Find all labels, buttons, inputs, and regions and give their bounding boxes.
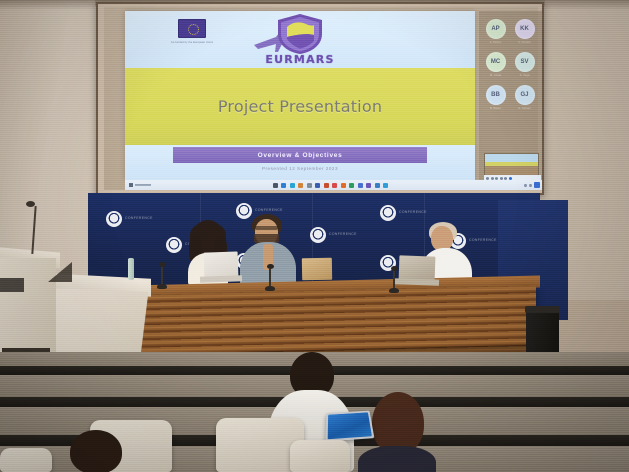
avatar: MC bbox=[486, 52, 506, 72]
eu-cofunding-text: Co-funded by the European Union bbox=[160, 41, 224, 44]
participant-name: G. Jansen bbox=[511, 106, 538, 110]
water-bottle bbox=[128, 258, 134, 280]
participant-tile[interactable]: GJG. Jansen bbox=[511, 85, 538, 115]
shield-icon bbox=[276, 13, 324, 55]
audience-laptop bbox=[325, 411, 374, 442]
seat-4 bbox=[0, 448, 52, 472]
participant-name: B. Bauer bbox=[482, 106, 509, 110]
table-microphone-3 bbox=[389, 266, 399, 293]
laptop-left bbox=[204, 251, 239, 278]
volume-icon[interactable] bbox=[529, 184, 532, 187]
participant-tile[interactable]: SVS. Vega bbox=[511, 52, 538, 82]
eurmars-wordmark: EURMARS bbox=[252, 53, 348, 66]
participant-name: A. Petrov bbox=[482, 40, 509, 44]
taskbar-app-icon[interactable] bbox=[273, 183, 278, 188]
backdrop-logo-text: CONFERENCE bbox=[329, 232, 357, 236]
taskbar-app-icon[interactable] bbox=[298, 183, 303, 188]
taskbar-app-icon[interactable] bbox=[341, 183, 346, 188]
backdrop-logo-text: CONFERENCE bbox=[399, 210, 427, 214]
start-button[interactable] bbox=[125, 180, 173, 190]
slide-subtitle-bar: Overview & Objectives bbox=[173, 147, 427, 163]
search-input[interactable] bbox=[135, 184, 151, 186]
backdrop-logo-text: CONFERENCE bbox=[255, 208, 283, 212]
backdrop-emblem-icon bbox=[106, 211, 122, 227]
lectern-shadow bbox=[48, 262, 72, 282]
seat-3 bbox=[290, 440, 350, 472]
avatar: SV bbox=[515, 52, 535, 72]
video-conference-participants[interactable]: APA. PetrovKKK. KovacsMCM. CostaSVS. Veg… bbox=[479, 11, 542, 180]
windows-taskbar[interactable] bbox=[125, 180, 542, 190]
projection-surface: Co-funded by the European Union bbox=[98, 4, 542, 193]
taskbar-app-icon[interactable] bbox=[332, 183, 337, 188]
waste-bin-lid bbox=[525, 306, 560, 313]
conference-room-screenshot: Co-funded by the European Union bbox=[0, 0, 629, 472]
participant-tile[interactable]: MCM. Costa bbox=[482, 52, 509, 82]
slide-subtitle: Overview & Objectives bbox=[258, 152, 343, 159]
self-view-room bbox=[485, 166, 538, 175]
taskbar-app-icon[interactable] bbox=[290, 183, 295, 188]
avatar: GJ bbox=[515, 85, 535, 105]
lectern-mic-head bbox=[26, 201, 35, 207]
audience-laptop-screen bbox=[328, 412, 372, 439]
table-microphone-1 bbox=[157, 262, 167, 289]
taskbar-app-icon[interactable] bbox=[324, 183, 329, 188]
participant-grid: APA. PetrovKKK. KovacsMCM. CostaSVS. Veg… bbox=[482, 19, 539, 115]
projection-screen: Co-funded by the European Union bbox=[96, 2, 544, 195]
taskbar-app-icon[interactable] bbox=[375, 183, 380, 188]
system-tray[interactable] bbox=[488, 182, 542, 188]
backdrop-logo-text: CONFERENCE bbox=[469, 238, 497, 242]
taskbar-app-icons[interactable] bbox=[173, 183, 488, 188]
self-view-thumbnail[interactable] bbox=[484, 153, 539, 176]
taskbar-app-icon[interactable] bbox=[383, 183, 388, 188]
taskbar-app-icon[interactable] bbox=[281, 183, 286, 188]
participant-name: S. Vega bbox=[511, 73, 538, 77]
audience-member-front-left bbox=[64, 430, 128, 472]
taskbar-app-icon[interactable] bbox=[315, 183, 320, 188]
backdrop-emblem-icon bbox=[310, 227, 326, 243]
network-icon[interactable] bbox=[524, 184, 527, 187]
participant-tile[interactable]: BBB. Bauer bbox=[482, 85, 509, 115]
participant-tile[interactable]: APA. Petrov bbox=[482, 19, 509, 49]
backdrop-emblem-icon bbox=[380, 205, 396, 221]
participant-name: M. Costa bbox=[482, 73, 509, 77]
taskbar-app-icon[interactable] bbox=[366, 183, 371, 188]
table-microphone-2 bbox=[265, 264, 275, 291]
folder-on-table bbox=[302, 258, 332, 281]
projected-desktop: Co-funded by the European Union bbox=[104, 7, 538, 190]
slide-title: Project Presentation bbox=[125, 97, 475, 116]
notification-icon[interactable] bbox=[534, 182, 540, 188]
backdrop-logo-text: CONFERENCE bbox=[125, 216, 153, 220]
lectern-panel bbox=[0, 278, 24, 292]
eu-flag-emblem: Co-funded by the European Union bbox=[160, 19, 224, 57]
slide-date: Presented 12 September 2023 bbox=[125, 166, 475, 171]
avatar: AP bbox=[486, 19, 506, 39]
taskbar-app-icon[interactable] bbox=[307, 183, 312, 188]
participant-tile[interactable]: KKK. Kovacs bbox=[511, 19, 538, 49]
start-icon[interactable] bbox=[129, 183, 133, 187]
taskbar-app-icon[interactable] bbox=[358, 183, 363, 188]
avatar: KK bbox=[515, 19, 535, 39]
avatar: BB bbox=[486, 85, 506, 105]
presentation-slide: Co-funded by the European Union bbox=[125, 11, 475, 180]
participant-name: K. Kovacs bbox=[511, 40, 538, 44]
self-view-sky bbox=[485, 154, 538, 162]
backdrop-emblem-icon bbox=[166, 237, 182, 253]
eu-flag-icon bbox=[178, 19, 206, 38]
eurmars-shield-logo: EURMARS bbox=[252, 13, 348, 69]
taskbar-app-icon[interactable] bbox=[349, 183, 354, 188]
